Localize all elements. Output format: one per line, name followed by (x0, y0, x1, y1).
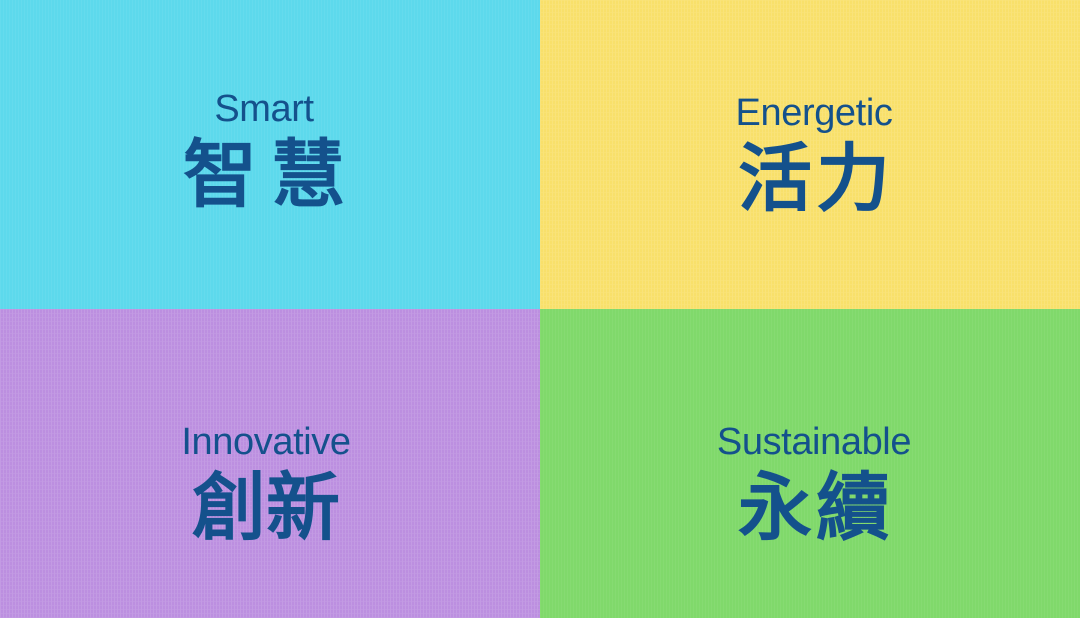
value-card-innovative-text: Innovative 創新 (181, 423, 350, 547)
value-card-energetic-text: Energetic 活力 (734, 94, 894, 218)
value-card-smart-text: Smart 智慧 (169, 90, 359, 214)
value-label-zh-energetic: 活力 (734, 140, 894, 218)
value-card-sustainable-text: Sustainable 永續 (717, 423, 911, 547)
values-grid: Smart 智慧 Energetic 活力 Innovative 創新 Sust… (0, 0, 1080, 618)
value-label-en-energetic: Energetic (736, 94, 893, 132)
value-label-en-sustainable: Sustainable (717, 423, 911, 461)
value-label-zh-innovative: 創新 (192, 469, 340, 547)
value-label-zh-sustainable: 永續 (734, 469, 894, 547)
value-label-zh-smart: 智慧 (169, 136, 359, 214)
value-card-smart[interactable]: Smart 智慧 (0, 0, 540, 309)
value-card-energetic[interactable]: Energetic 活力 (540, 0, 1080, 309)
value-card-innovative[interactable]: Innovative 創新 (0, 309, 540, 618)
value-label-en-innovative: Innovative (181, 423, 350, 461)
value-label-en-smart: Smart (214, 90, 313, 128)
value-card-sustainable[interactable]: Sustainable 永續 (540, 309, 1080, 618)
